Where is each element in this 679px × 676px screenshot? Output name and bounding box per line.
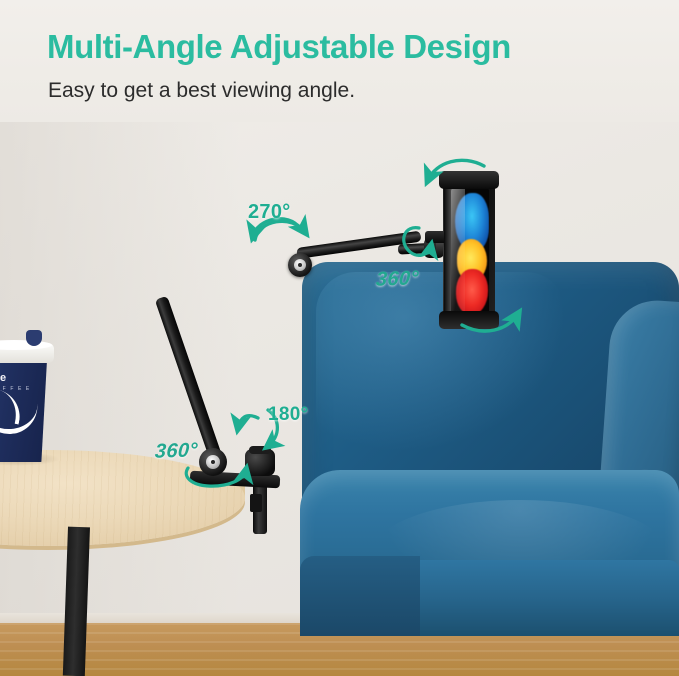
page-subtitle: Easy to get a best viewing angle. — [48, 79, 355, 103]
screen-glare — [451, 187, 465, 315]
coffee-cup-brand-subtext: C O F F E E — [0, 386, 31, 392]
sofa-base-skirt — [300, 556, 420, 636]
rotation-label-180: 180° — [268, 404, 309, 426]
product-marketing-image: ffee C O F F E E — [0, 0, 679, 676]
base-joint-center — [211, 460, 215, 464]
rotation-label-360-base: 360° — [154, 439, 198, 463]
header-band: Multi-Angle Adjustable Design Easy to ge… — [0, 0, 679, 122]
clamp-foot — [250, 494, 262, 512]
tablet-screen — [451, 187, 489, 315]
tablet-holder-bottom-grip — [439, 311, 499, 329]
elbow-joint-center — [298, 263, 302, 267]
tablet-holder-top-grip — [439, 171, 499, 189]
rotation-label-360-boom: 360° — [375, 267, 419, 291]
clamp-knob-top — [249, 446, 271, 454]
coffee-cup-lid-tab — [26, 330, 42, 346]
tablet-holder-side-rail — [444, 185, 451, 317]
tablet-holder — [443, 175, 495, 325]
coffee-cup-brand-text: ffee — [0, 372, 6, 384]
page-title: Multi-Angle Adjustable Design — [47, 28, 511, 66]
sofa-backrest-highlight — [316, 272, 566, 452]
rotation-label-270: 270° — [248, 201, 291, 224]
